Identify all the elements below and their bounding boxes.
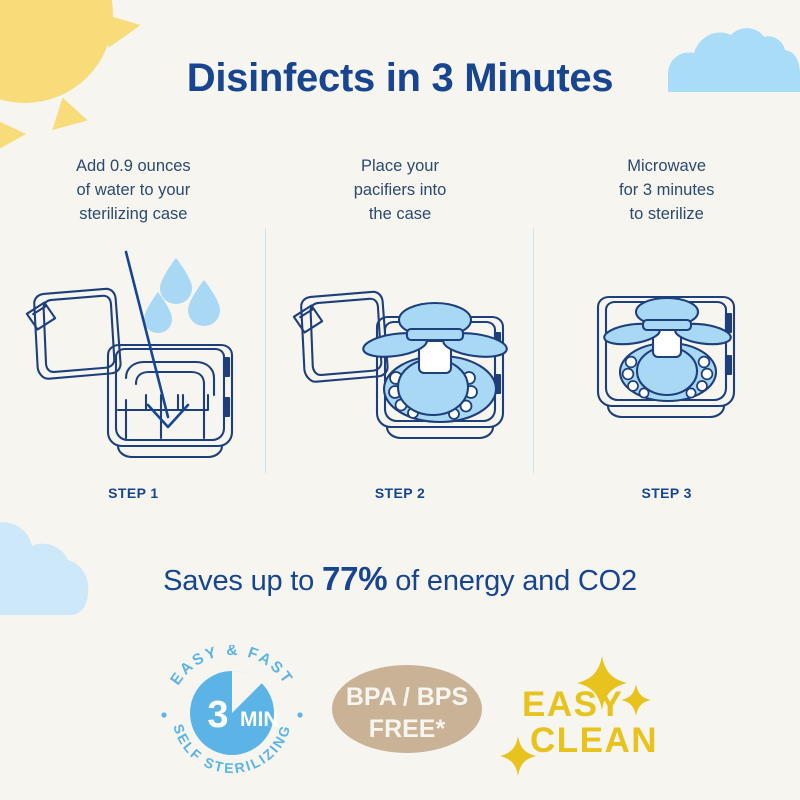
step-3-label: STEP 3 <box>641 485 691 505</box>
savings-percent: 77% <box>322 560 387 597</box>
self-sterilizing-badge: EASY & FAST SELF STERILIZING 3 MIN <box>152 645 312 775</box>
water-drop-icon <box>144 258 220 333</box>
savings-prefix: Saves up to <box>163 565 322 597</box>
badge-center-unit: MIN <box>240 708 279 731</box>
step-1-description: Add 0.9 ounces of water to your steriliz… <box>76 155 191 233</box>
step-3-illustration <box>533 233 800 481</box>
step-2-illustration <box>267 233 534 481</box>
step-2: Place your pacifiers into the case <box>267 155 534 505</box>
easy-clean-badge: EASY CLEAN <box>500 640 680 780</box>
step-1: Add 0.9 ounces of water to your steriliz… <box>0 155 267 505</box>
step-3: Microwave for 3 minutes to sterilize <box>533 155 800 505</box>
badges-row: EASY & FAST SELF STERILIZING 3 MIN BPA /… <box>0 640 800 785</box>
step-1-label: STEP 1 <box>108 485 158 505</box>
easy-clean-line-1: EASY <box>522 685 623 724</box>
page-title: Disinfects in 3 Minutes <box>0 56 800 101</box>
badge-center-number: 3 <box>207 694 228 736</box>
steps-row: Add 0.9 ounces of water to your steriliz… <box>0 155 800 505</box>
easy-clean-line-2: CLEAN <box>530 721 658 760</box>
bpa-free-badge: BPA / BPS FREE* <box>332 663 482 755</box>
savings-statement: Saves up to 77% of energy and CO2 <box>0 560 800 598</box>
bpa-line-1: BPA / BPS <box>346 683 468 711</box>
infographic-canvas: Disinfects in 3 Minutes Add 0.9 ounces o… <box>0 0 800 800</box>
step-3-description: Microwave for 3 minutes to sterilize <box>619 155 714 233</box>
step-1-illustration <box>0 233 267 481</box>
step-2-label: STEP 2 <box>375 485 425 505</box>
pacifier-icon <box>603 298 732 401</box>
step-2-description: Place your pacifiers into the case <box>354 155 447 233</box>
bpa-line-2: FREE* <box>369 715 446 743</box>
savings-suffix: of energy and CO2 <box>387 565 637 597</box>
